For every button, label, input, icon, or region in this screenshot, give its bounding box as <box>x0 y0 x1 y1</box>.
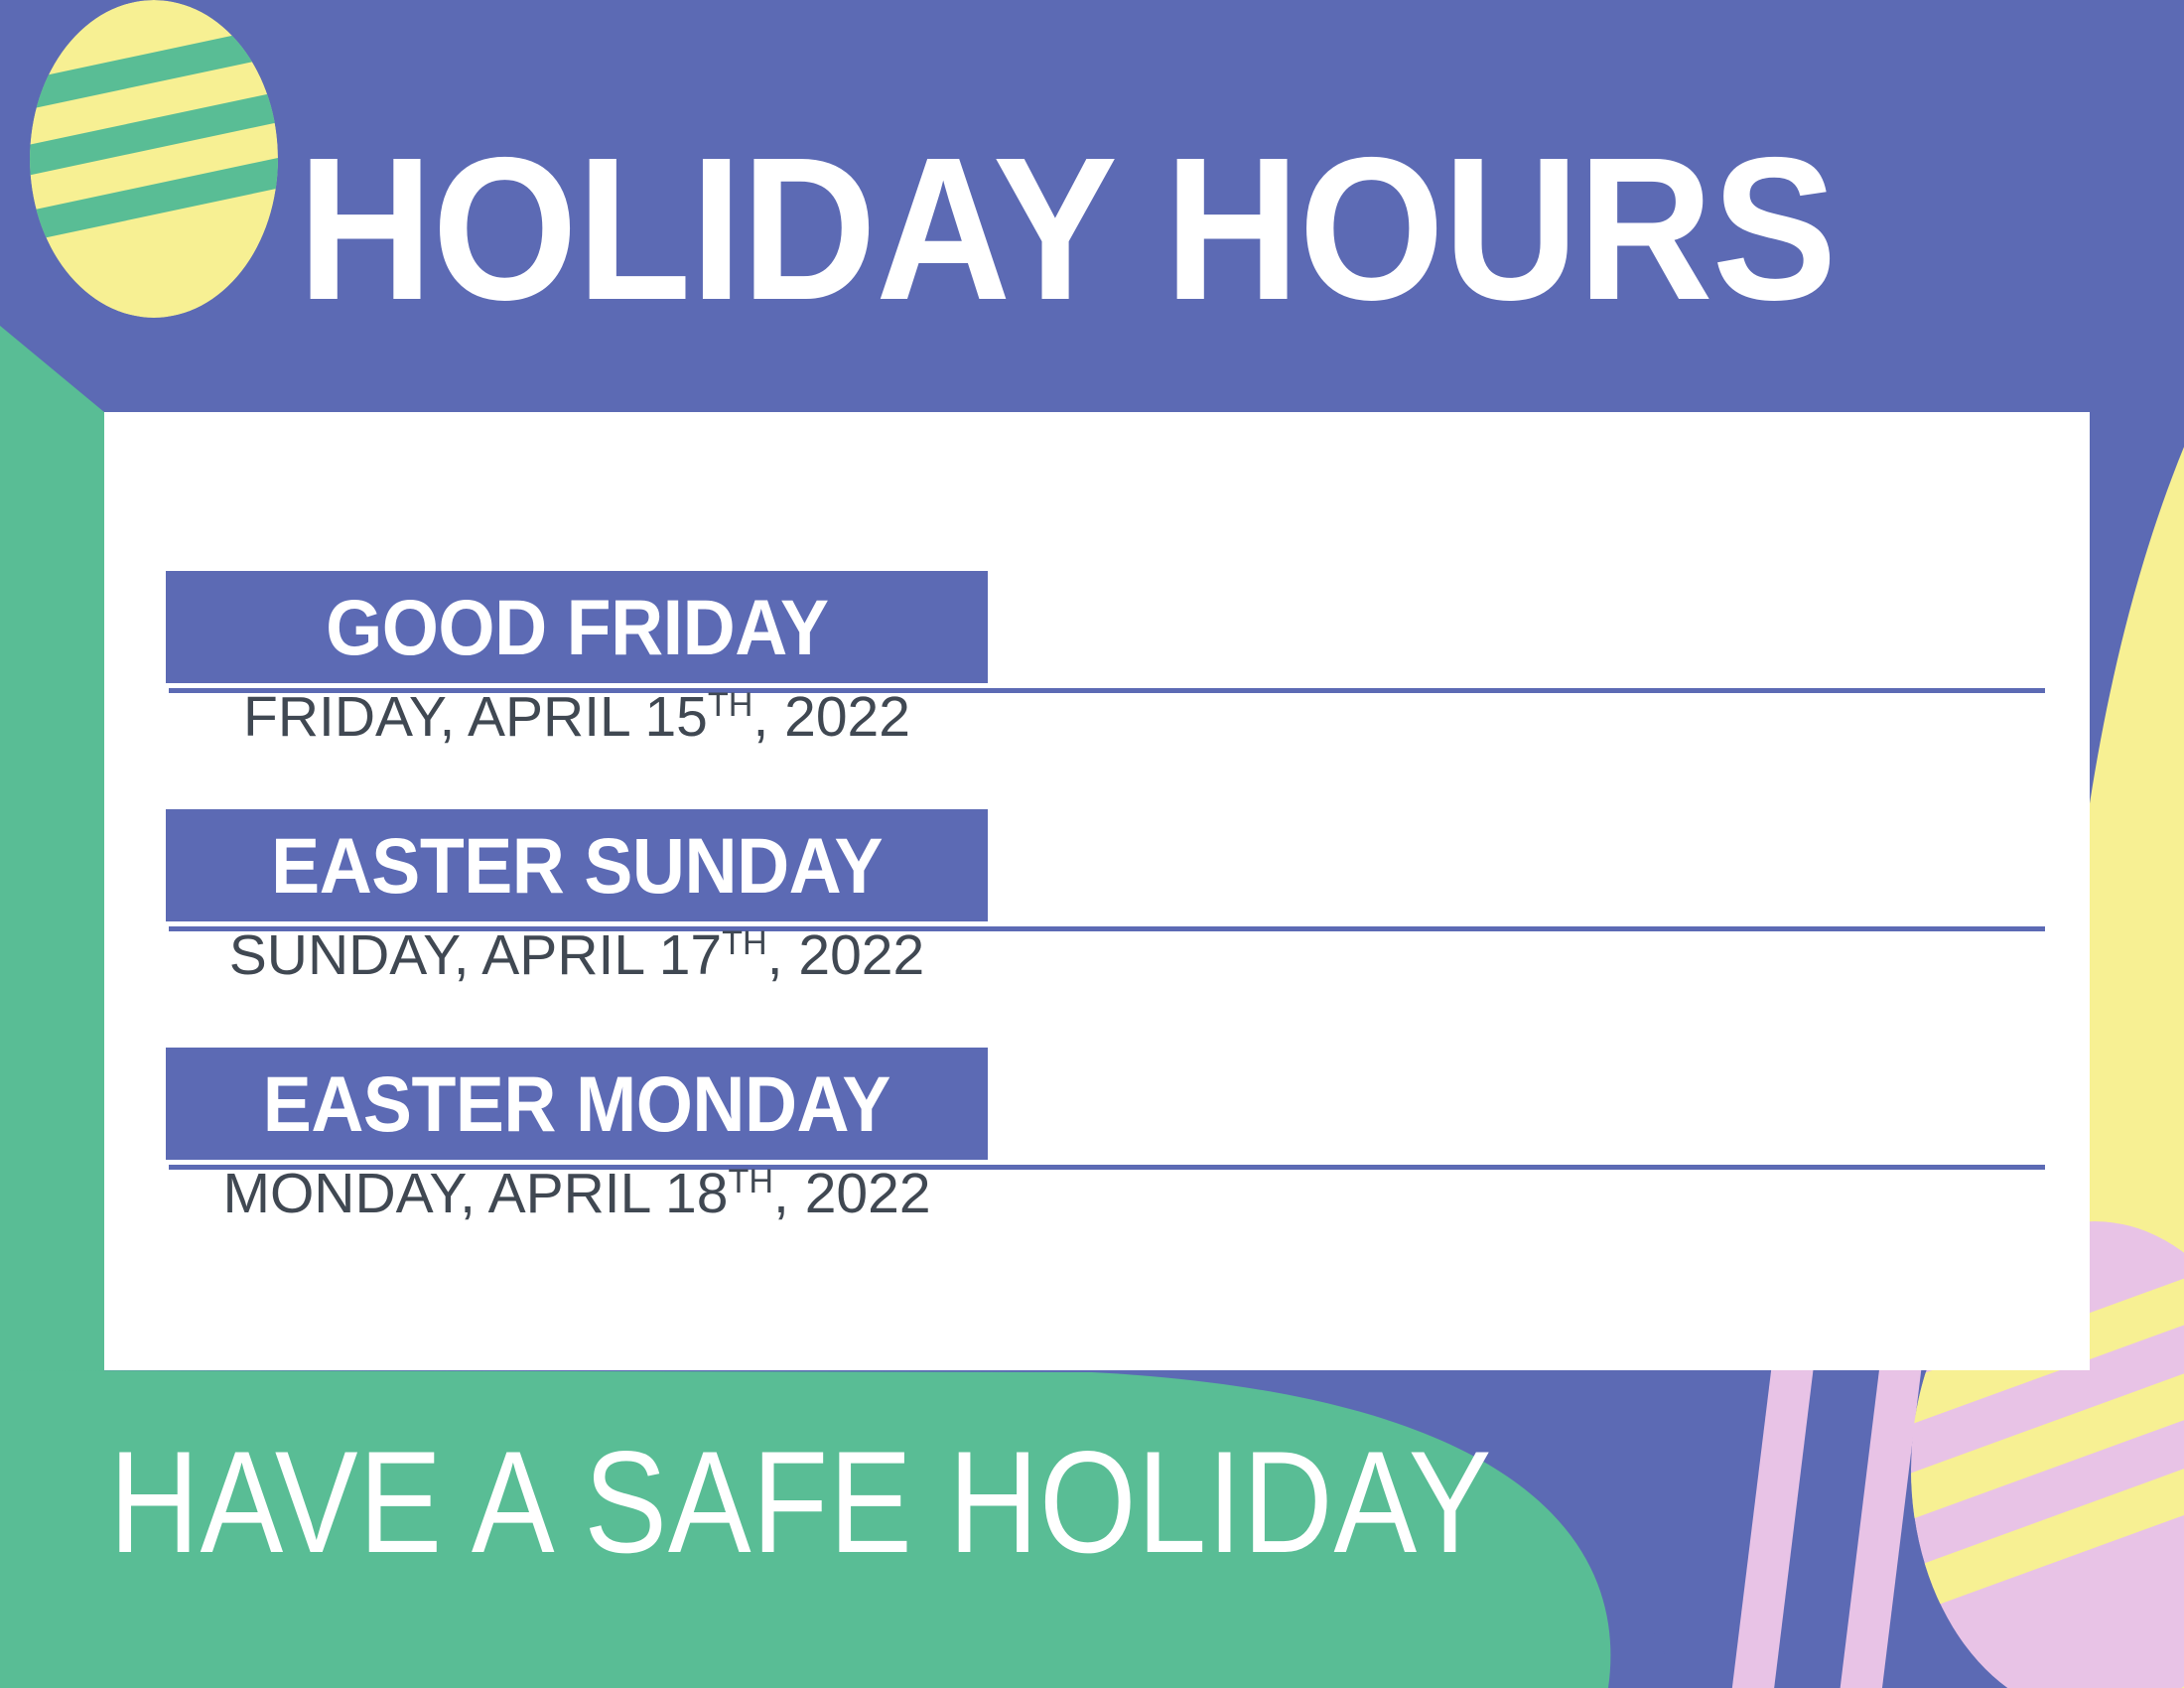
holiday-name-label: GOOD FRIDAY <box>326 588 829 666</box>
holiday-name-tag: EASTER MONDAY <box>166 1048 988 1160</box>
date-prefix: MONDAY, APRIL 18 <box>222 1162 728 1225</box>
schedule-rows: GOOD FRIDAY FRIDAY, APRIL 15TH, 2022 EAS… <box>104 412 2090 1370</box>
poster-canvas: HOLIDAY HOURS GOOD FRIDAY FRIDAY, APRIL … <box>0 0 2184 1688</box>
holiday-name-label: EASTER MONDAY <box>263 1064 890 1143</box>
date-ordinal: TH <box>728 1163 773 1200</box>
holiday-date: SUNDAY, APRIL 17TH, 2022 <box>166 926 988 986</box>
holiday-name-tag: GOOD FRIDAY <box>166 571 988 683</box>
holiday-name-tag: EASTER SUNDAY <box>166 809 988 921</box>
holiday-date: MONDAY, APRIL 18TH, 2022 <box>166 1165 988 1224</box>
page-title: HOLIDAY HOURS <box>298 127 1850 331</box>
holiday-date: FRIDAY, APRIL 15TH, 2022 <box>166 688 988 748</box>
date-ordinal: TH <box>708 686 753 724</box>
footer-message: HAVE A SAFE HOLIDAY <box>109 1430 1492 1575</box>
date-suffix: , 2022 <box>767 923 924 987</box>
date-prefix: FRIDAY, APRIL 15 <box>243 685 708 749</box>
date-suffix: , 2022 <box>773 1162 930 1225</box>
holiday-name-label: EASTER SUNDAY <box>271 826 883 905</box>
date-suffix: , 2022 <box>752 685 909 749</box>
date-ordinal: TH <box>722 924 767 962</box>
date-prefix: SUNDAY, APRIL 17 <box>229 923 722 987</box>
